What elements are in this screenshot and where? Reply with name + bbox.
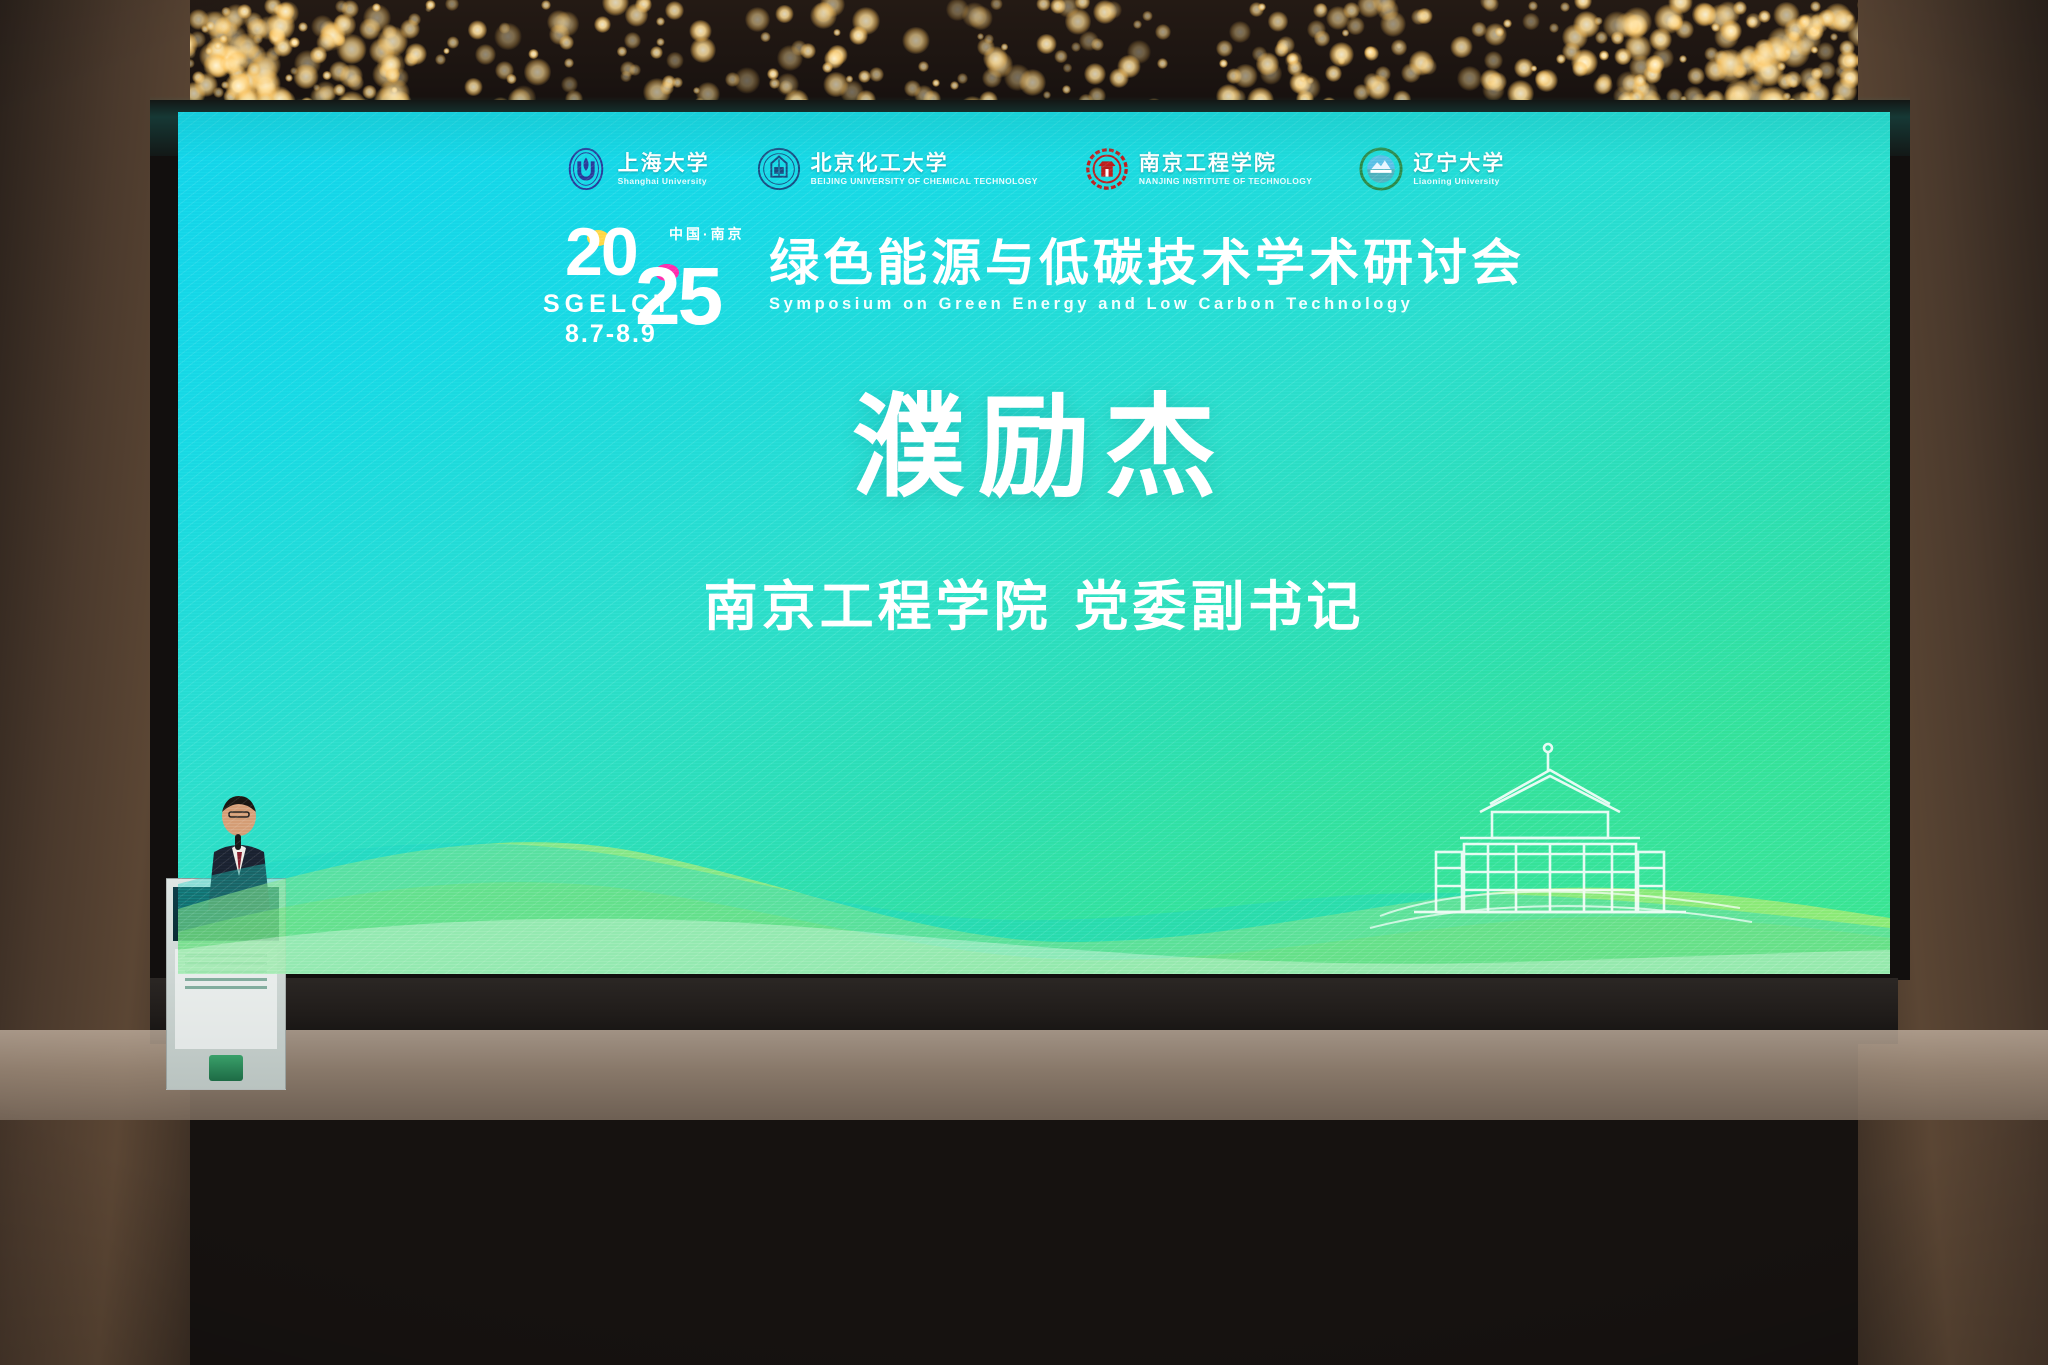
speaker-affiliation: 南京工程学院 党委副书记 (178, 562, 1890, 641)
chandelier-bulb-icon (902, 27, 930, 55)
chandelier-bulb-icon (1503, 19, 1512, 28)
chandelier-bulb-icon (247, 62, 261, 76)
chandelier-bulb-icon (336, 34, 366, 64)
chandelier-bulb-icon (813, 2, 834, 23)
chandelier-bulb-icon (1528, 1, 1538, 11)
chandelier-bulb-icon (564, 58, 574, 68)
chandelier-bulb-icon (932, 79, 940, 87)
chandelier-bulb-icon (1252, 46, 1268, 62)
chandelier-bulb-icon (1616, 71, 1640, 95)
chandelier-bulb-icon (1556, 54, 1566, 64)
chandelier-bulb-icon (1484, 51, 1503, 70)
chandelier-bulb-icon (561, 76, 578, 93)
shanghai-university-emblem-icon (563, 146, 609, 192)
logo-nanjing-institute-of-technology: 南京工程学院 NANJING INSTITUTE OF TECHNOLOGY (1084, 146, 1312, 192)
audience-area (0, 725, 2048, 1365)
chandelier-bulb-icon (1258, 3, 1266, 11)
chandelier-bulb-icon (1401, 63, 1421, 83)
chandelier-bulb-icon (846, 75, 853, 82)
chandelier-bulb-icon (1062, 85, 1071, 94)
chandelier-bulb-icon (1798, 13, 1821, 36)
chandelier-bulb-icon (1830, 33, 1838, 41)
chandelier-bulb-icon (1784, 48, 1792, 56)
chandelier-bulb-icon (1233, 64, 1257, 88)
chandelier-bulb-icon (1142, 11, 1152, 21)
event-title-block: 20 25 中国·南京 SGELCT 8.7-8.9 绿色能源与低碳技术学术研讨… (178, 220, 1890, 330)
chandelier-bulb-icon (528, 49, 538, 59)
chandelier-bulb-icon (1716, 1, 1741, 26)
chandelier-bulb-icon (625, 3, 649, 27)
chandelier-bulb-icon (734, 67, 760, 93)
chandelier-bulb-icon (1450, 36, 1472, 58)
chandelier-bulb-icon (1127, 40, 1150, 63)
chandelier-bulb-icon (849, 26, 868, 45)
chandelier-bulb-icon (1457, 66, 1482, 91)
chandelier-bulb-icon (1219, 59, 1228, 68)
chandelier-bulb-icon (957, 73, 968, 84)
chandelier-bulb-icon (1268, 11, 1289, 32)
chandelier-bulb-icon (372, 3, 381, 12)
chandelier-bulb-icon (1832, 9, 1856, 33)
event-year-logo: 20 25 中国·南京 SGELCT 8.7-8.9 (543, 220, 751, 330)
chandelier-bulb-icon (1531, 65, 1538, 72)
chandelier-bulb-icon (559, 35, 574, 50)
chandelier-bulb-icon (1063, 63, 1072, 72)
logo-liaoning-university: 辽宁大学 Liaoning University (1358, 146, 1505, 192)
chandelier-bulb-icon (918, 61, 929, 72)
chandelier-bulb-icon (594, 16, 611, 33)
logo-label-cn: 北京化工大学 (811, 152, 1038, 173)
event-title-en: Symposium on Green Energy and Low Carbon… (769, 295, 1525, 314)
chandelier-bulb-icon (1758, 10, 1771, 23)
chandelier-bulb-icon (339, 64, 363, 88)
chandelier-bulb-icon (425, 0, 435, 10)
logo-label-en: Liaoning University (1413, 177, 1505, 186)
chandelier-bulb-icon (1572, 61, 1588, 77)
year-first: 20 (565, 218, 637, 286)
chandelier-bulb-icon (693, 87, 700, 94)
chandelier-bulb-icon (377, 26, 408, 57)
chandelier-bulb-icon (1277, 36, 1295, 54)
chandelier-bulb-icon (1019, 69, 1046, 96)
chandelier-bulb-icon (690, 37, 716, 63)
chandelier-bulb-icon (858, 70, 871, 83)
chandelier-bulb-icon (298, 22, 308, 32)
chandelier-bulb-icon (982, 68, 1002, 88)
chandelier-bulb-icon (1307, 20, 1326, 39)
chandelier-bulb-icon (1155, 24, 1171, 40)
logo-buct: 北京化工大学 BEIJING UNIVERSITY OF CHEMICAL TE… (756, 146, 1038, 192)
chandelier-bulb-icon (206, 21, 215, 30)
chandelier-bulb-icon (665, 1, 684, 20)
chandelier-bulb-icon (1593, 77, 1611, 95)
chandelier-bulb-icon (276, 2, 295, 21)
chandelier-bulb-icon (273, 37, 293, 57)
chandelier-bulb-icon (1380, 11, 1406, 37)
chandelier-bulb-icon (1810, 1, 1821, 12)
chandelier-bulb-icon (650, 46, 663, 59)
speaker-name: 濮励杰 (178, 392, 1890, 504)
chandelier-bulb-icon (524, 58, 551, 85)
logo-shanghai-university: 上海大学 Shanghai University (563, 146, 710, 192)
nanjing-institute-of-technology-emblem-icon (1084, 146, 1130, 192)
chandelier-bulb-icon (1654, 4, 1684, 34)
chandelier-bulb-icon (541, 0, 551, 10)
chandelier-bulb-icon (617, 46, 628, 57)
chandelier-bulb-icon (1420, 58, 1437, 75)
chandelier-bulb-icon (1313, 3, 1328, 18)
chandelier-bulb-icon (1084, 63, 1106, 85)
logo-label-en: BEIJING UNIVERSITY OF CHEMICAL TECHNOLOG… (811, 177, 1038, 186)
chandelier-bulb-icon (1535, 70, 1551, 86)
chandelier-bulb-icon (1342, 29, 1349, 36)
chandelier-bulb-icon (464, 78, 482, 96)
chandelier-bulb-icon (1133, 20, 1142, 29)
chandelier-bulb-icon (1495, 27, 1504, 36)
event-title-cn: 绿色能源与低碳技术学术研讨会 (769, 238, 1525, 288)
chandelier-bulb-icon (656, 38, 664, 46)
event-name-group: 绿色能源与低碳技术学术研讨会 Symposium on Green Energy… (769, 220, 1525, 314)
chandelier-bulb-icon (1560, 2, 1570, 12)
chandelier-bulb-icon (624, 32, 642, 50)
chandelier-bulb-icon (333, 13, 356, 36)
logo-label-cn: 辽宁大学 (1413, 152, 1505, 173)
chandelier-bulb-icon (293, 64, 319, 90)
chandelier-bulb-icon (1645, 55, 1664, 74)
chandelier-bulb-icon (629, 64, 641, 76)
chandelier-bulb-icon (506, 74, 517, 85)
chandelier-bulb-icon (405, 43, 427, 65)
chandelier-bulb-icon (1603, 11, 1632, 40)
conference-hall-scene: 上海大学 Shanghai University 北京化工大学 (0, 0, 2048, 1365)
buct-emblem-icon (756, 146, 802, 192)
chandelier-bulb-icon (1522, 13, 1540, 31)
chandelier-bulb-icon (443, 48, 450, 55)
logo-label-cn: 上海大学 (618, 152, 710, 173)
chandelier-bulb-icon (1329, 42, 1354, 67)
chandelier-bulb-icon (237, 4, 251, 18)
chandelier-bulb-icon (1054, 50, 1068, 64)
chandelier-bulb-icon (990, 0, 1002, 10)
chandelier-bulb-icon (984, 34, 994, 44)
chandelier-bulb-icon (435, 54, 446, 65)
chandelier-bulb-icon (1599, 50, 1609, 60)
chandelier-bulb-icon (1549, 23, 1559, 33)
chandelier-bulb-icon (833, 29, 840, 36)
chandelier-bulb-icon (1679, 55, 1687, 63)
chandelier-bulb-icon (666, 52, 684, 70)
event-dates: 8.7-8.9 (565, 320, 657, 349)
chandelier-bulb-icon (475, 44, 496, 65)
chandelier-bulb-icon (775, 5, 793, 23)
chandelier-bulb-icon (760, 32, 771, 43)
chandelier-bulb-icon (1216, 40, 1233, 57)
logo-label-en: Shanghai University (618, 177, 710, 186)
chandelier-bulb-icon (214, 42, 222, 50)
chandelier-bulb-icon (656, 17, 665, 26)
chandelier-bulb-icon (1482, 79, 1504, 101)
logo-label-cn: 南京工程学院 (1139, 152, 1312, 173)
chandelier-bulb-icon (1229, 21, 1251, 43)
event-location: 中国·南京 (669, 224, 745, 244)
chandelier-bulb-icon (494, 23, 521, 50)
chandelier-bulb-icon (468, 20, 488, 40)
chandelier-bulb-icon (1574, 0, 1592, 10)
chandelier-bulb-icon (554, 11, 579, 36)
chandelier-bulb-icon (1043, 91, 1051, 99)
chandelier-bulb-icon (777, 45, 803, 71)
chandelier-bulb-icon (745, 7, 770, 32)
chandelier-bulb-icon (1104, 1, 1122, 19)
chandelier-bulb-icon (447, 36, 459, 48)
chandelier-bulb-icon (1716, 49, 1745, 78)
liaoning-university-emblem-icon (1358, 146, 1404, 192)
chandelier-bulb-icon (672, 77, 683, 88)
chandelier-bulb-icon (1687, 67, 1705, 85)
chandelier-bulb-icon (1753, 43, 1778, 68)
chandelier-bulb-icon (824, 49, 844, 69)
chandelier-bulb-icon (1471, 22, 1487, 38)
chandelier-bulb-icon (1391, 39, 1408, 56)
chandelier-bulb-icon (1036, 34, 1057, 55)
chandelier-bulb-icon (1411, 9, 1427, 25)
chandelier-bulb-icon (1325, 65, 1342, 82)
event-acronym: SGELCT (543, 290, 674, 319)
chandelier-bulb-icon (285, 74, 293, 82)
chandelier-bulb-icon (869, 67, 884, 82)
university-logo-row: 上海大学 Shanghai University 北京化工大学 (178, 146, 1890, 192)
chandelier-bulb-icon (445, 0, 459, 11)
chandelier-bulb-icon (1157, 58, 1168, 69)
chandelier-bulb-icon (1799, 67, 1822, 90)
chandelier-bulb-icon (246, 18, 269, 41)
chandelier-bulb-icon (1036, 0, 1051, 11)
logo-label-en: NANJING INSTITUTE OF TECHNOLOGY (1139, 177, 1312, 186)
